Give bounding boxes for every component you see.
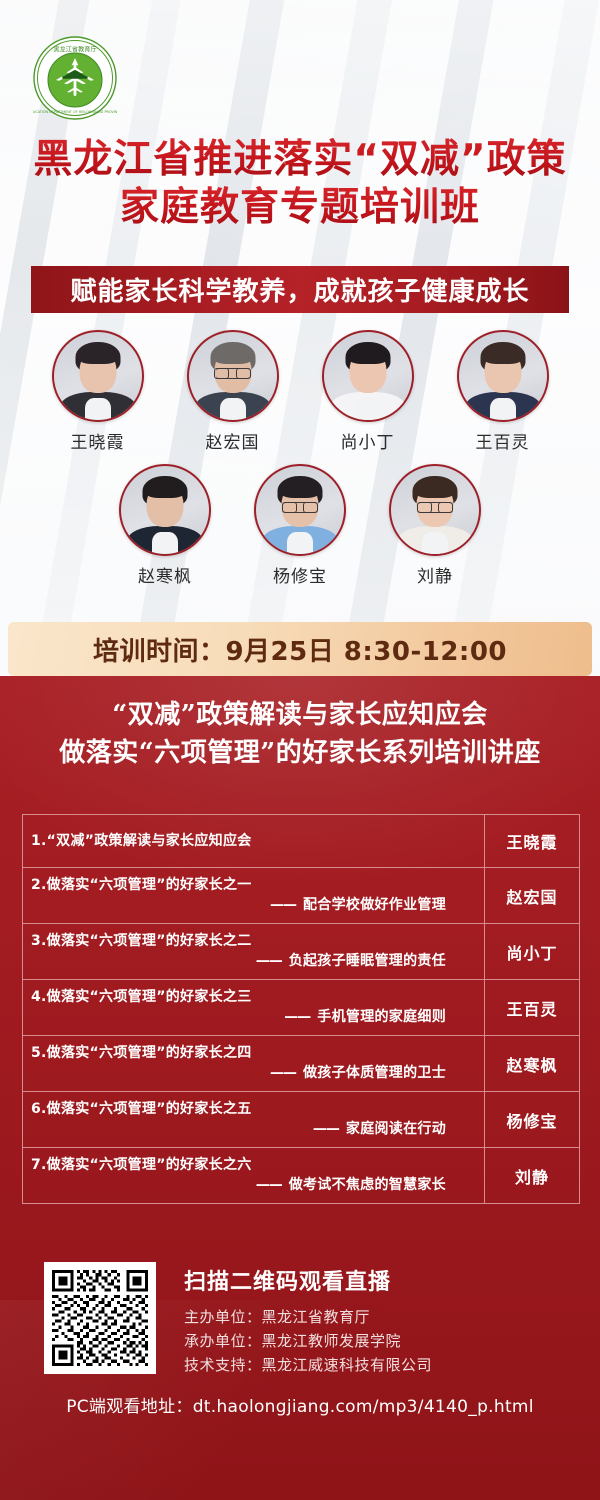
svg-text:EDUCATION DEPARTMENT OF HEILON: EDUCATION DEPARTMENT OF HEILONGJIANG PRO… [33,110,117,114]
course-heading-line-1: “双减”政策解读与家长应知应会 [0,696,600,734]
course-topic-sub-text: 家庭阅读在行动 [346,1121,446,1137]
course-speaker-cell: 刘静 [485,1148,579,1203]
em-dash: —— [313,1121,339,1137]
course-topic-main: 7.做落实“六项管理”的好家长之六 [31,1155,474,1175]
table-row: 2.做落实“六项管理”的好家长之一——配合学校做好作业管理赵宏国 [23,868,579,924]
title-line-1: 黑龙江省推进落实“双减”政策 [0,136,600,184]
footer-text-block: 扫描二维码观看直播 主办单位：黑龙江省教育厅 承办单位：黑龙江教师发展学院 技术… [184,1262,432,1377]
table-row: 7.做落实“六项管理”的好家长之六——做考试不焦虑的智慧家长刘静 [23,1148,579,1203]
course-speaker-cell: 赵寒枫 [485,1036,579,1091]
speaker-card: 尚小丁 [314,330,421,453]
speaker-avatar [254,464,346,556]
speaker-row-2: 赵寒枫杨修宝刘静 [0,464,600,587]
glasses-icon [216,368,250,379]
speaker-name: 杨修宝 [273,562,327,587]
course-heading: “双减”政策解读与家长应知应会 做落实“六项管理”的好家长系列培训讲座 [0,696,600,772]
training-time-banner: 培训时间：9月25日 8:30-12:00 [8,622,592,676]
course-speaker-cell: 杨修宝 [485,1092,579,1147]
course-topic-cell: 1.“双减”政策解读与家长应知应会 [23,815,485,867]
course-topic-main: 2.做落实“六项管理”的好家长之一 [31,875,474,895]
table-row: 4.做落实“六项管理”的好家长之三——手机管理的家庭细则王百灵 [23,980,579,1036]
course-topic-sub: ——负起孩子睡眠管理的责任 [31,951,474,971]
table-row: 6.做落实“六项管理”的好家长之五——家庭阅读在行动杨修宝 [23,1092,579,1148]
course-topic-sub-text: 配合学校做好作业管理 [303,897,446,913]
speaker-avatar [119,464,211,556]
title-line-2: 家庭教育专题培训班 [0,184,600,232]
speaker-card: 王晓霞 [44,330,151,453]
speaker-row-1: 王晓霞赵宏国尚小丁王百灵 [0,330,600,453]
course-topic-sub-text: 做考试不焦虑的智慧家长 [289,1177,446,1193]
course-topic-cell: 3.做落实“六项管理”的好家长之二——负起孩子睡眠管理的责任 [23,924,485,979]
glasses-icon [418,502,452,513]
subtitle-banner: 赋能家长科学教养，成就孩子健康成长 [31,266,569,313]
course-topic-cell: 5.做落实“六项管理”的好家长之四——做孩子体质管理的卫士 [23,1036,485,1091]
course-topic-main: 6.做落实“六项管理”的好家长之五 [31,1099,474,1119]
course-topic-sub: ——配合学校做好作业管理 [31,895,474,915]
course-heading-line-2: 做落实“六项管理”的好家长系列培训讲座 [0,734,600,772]
course-topic-sub: ——手机管理的家庭细则 [31,1007,474,1027]
course-table: 1.“双减”政策解读与家长应知应会王晓霞2.做落实“六项管理”的好家长之一——配… [22,814,580,1204]
course-topic-sub: ——家庭阅读在行动 [31,1119,474,1139]
training-time-text: 培训时间：9月25日 8:30-12:00 [93,631,507,668]
course-speaker-cell: 王百灵 [485,980,579,1035]
speaker-name: 刘静 [417,562,453,587]
speaker-name: 王百灵 [476,428,530,453]
table-row: 1.“双减”政策解读与家长应知应会王晓霞 [23,815,579,868]
glasses-icon [283,502,317,513]
course-topic-sub: ——做考试不焦虑的智慧家长 [31,1175,474,1195]
svg-text:黑龙江省教育厅: 黑龙江省教育厅 [53,46,96,54]
qr-code-icon[interactable] [44,1262,156,1374]
em-dash: —— [256,953,282,969]
speaker-avatar [52,330,144,422]
course-topic-main: 4.做落实“六项管理”的好家长之三 [31,987,474,1007]
course-topic-sub-text: 手机管理的家庭细则 [317,1009,446,1025]
course-speaker-cell: 赵宏国 [485,868,579,923]
speaker-card: 赵寒枫 [112,464,219,587]
course-topic-cell: 7.做落实“六项管理”的好家长之六——做考试不焦虑的智慧家长 [23,1148,485,1203]
speaker-card: 杨修宝 [247,464,354,587]
organizer-line: 主办单位：黑龙江省教育厅 [184,1305,432,1329]
speaker-card: 王百灵 [449,330,556,453]
course-topic-sub-text: 做孩子体质管理的卫士 [303,1065,446,1081]
page-title: 黑龙江省推进落实“双减”政策 家庭教育专题培训班 [0,136,600,232]
course-topic-sub: ——做孩子体质管理的卫士 [31,1063,474,1083]
course-topic-cell: 6.做落实“六项管理”的好家长之五——家庭阅读在行动 [23,1092,485,1147]
speaker-avatar [187,330,279,422]
speaker-name: 王晓霞 [71,428,125,453]
course-speaker-cell: 尚小丁 [485,924,579,979]
em-dash: —— [256,1177,282,1193]
course-topic-main: 5.做落实“六项管理”的好家长之四 [31,1043,474,1063]
em-dash: —— [284,1009,310,1025]
course-section: “双减”政策解读与家长应知应会 做落实“六项管理”的好家长系列培训讲座 1.“双… [0,676,600,1500]
poster-root: 黑龙江省教育厅 EDUCATION DEPARTMENT OF HEILONGJ… [0,0,600,1500]
footer-block: 扫描二维码观看直播 主办单位：黑龙江省教育厅 承办单位：黑龙江教师发展学院 技术… [0,1262,600,1377]
em-dash: —— [270,897,296,913]
speaker-avatar [457,330,549,422]
course-topic-main: 3.做落实“六项管理”的好家长之二 [31,931,474,951]
table-row: 5.做落实“六项管理”的好家长之四——做孩子体质管理的卫士赵寒枫 [23,1036,579,1092]
tech-support-line: 技术支持：黑龙江威速科技有限公司 [184,1353,432,1377]
speaker-avatar [322,330,414,422]
speaker-name: 赵寒枫 [138,562,192,587]
speaker-avatar [389,464,481,556]
speaker-name: 赵宏国 [206,428,260,453]
speaker-name: 尚小丁 [341,428,395,453]
speaker-card: 赵宏国 [179,330,286,453]
table-row: 3.做落实“六项管理”的好家长之二——负起孩子睡眠管理的责任尚小丁 [23,924,579,980]
course-topic-cell: 2.做落实“六项管理”的好家长之一——配合学校做好作业管理 [23,868,485,923]
course-topic-sub-text: 负起孩子睡眠管理的责任 [289,953,446,969]
scan-title: 扫描二维码观看直播 [184,1264,432,1296]
host-line: 承办单位：黑龙江教师发展学院 [184,1329,432,1353]
speaker-gallery: 王晓霞赵宏国尚小丁王百灵 赵寒枫杨修宝刘静 [0,330,600,587]
pc-watch-url[interactable]: PC端观看地址：dt.haolongjiang.com/mp3/4140_p.h… [0,1392,600,1417]
course-topic-cell: 4.做落实“六项管理”的好家长之三——手机管理的家庭细则 [23,980,485,1035]
course-speaker-cell: 王晓霞 [485,815,579,867]
subtitle-text: 赋能家长科学教养，成就孩子健康成长 [70,271,529,308]
education-department-logo-icon: 黑龙江省教育厅 EDUCATION DEPARTMENT OF HEILONGJ… [33,36,117,120]
speaker-card: 刘静 [382,464,489,587]
course-topic-main: 1.“双减”政策解读与家长应知应会 [31,831,474,851]
em-dash: —— [270,1065,296,1081]
